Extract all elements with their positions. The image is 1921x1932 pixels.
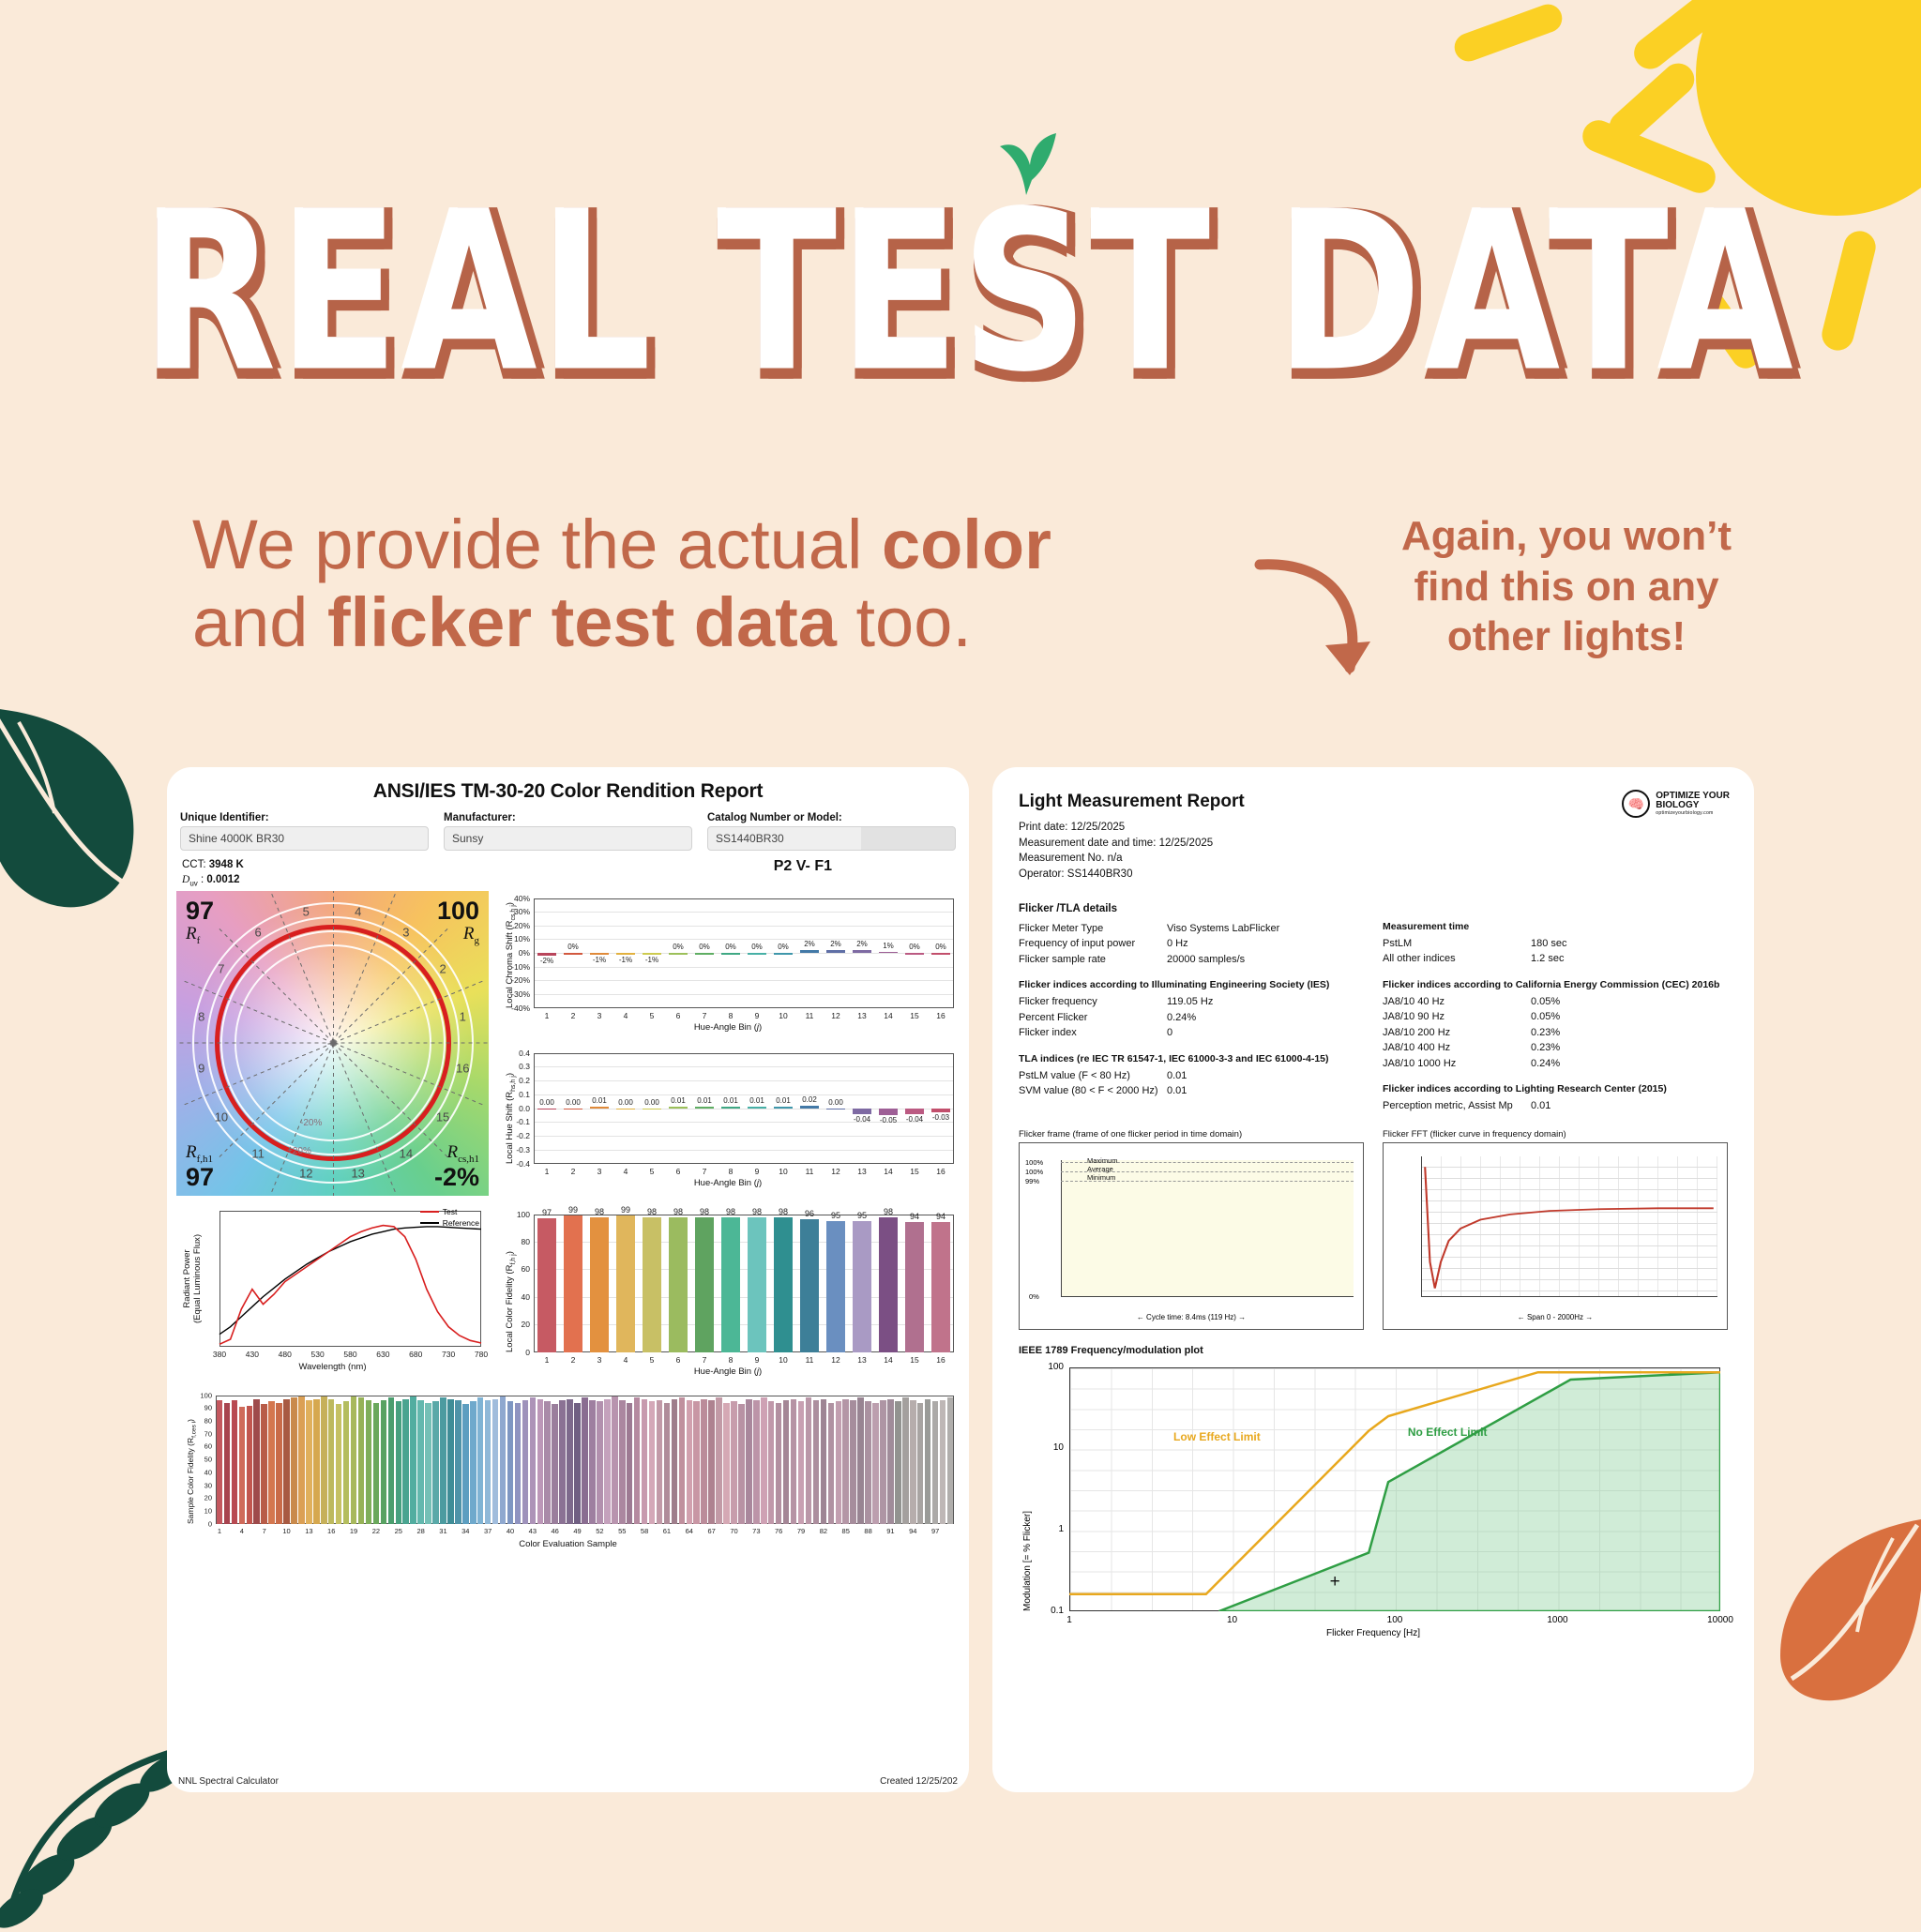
- x-tick-label: 5: [650, 1355, 655, 1365]
- bar: [925, 1399, 931, 1524]
- bar-value-label: 0.02: [802, 1095, 817, 1104]
- bar-value-label: -0.03: [932, 1113, 949, 1122]
- x-tick-label: 25: [395, 1527, 402, 1535]
- cvg-bin-label: 5: [303, 905, 310, 919]
- measurement-time-row: All other indices1.2 sec: [1383, 951, 1728, 967]
- bar: [564, 1215, 582, 1352]
- x-tick-label: 58: [641, 1527, 648, 1535]
- field-value[interactable]: Sunsy: [444, 826, 692, 851]
- bar: [693, 1401, 700, 1523]
- bar: [276, 1403, 282, 1524]
- local-color-fidelity-chart: 1008060402009719929839949859869879889899…: [496, 1201, 960, 1384]
- bar: [268, 1401, 275, 1523]
- x-axis-label: Hue-Angle Bin (j): [496, 1178, 960, 1188]
- y-axis-label: Local Hue Shift (Rhs,h j): [505, 1073, 517, 1164]
- bar-value-label: -1%: [593, 956, 606, 964]
- bar: [850, 1400, 856, 1524]
- kv-value: 180 sec: [1531, 936, 1567, 952]
- cec-row: JA8/10 1000 Hz0.24%: [1383, 1056, 1728, 1072]
- bar: [910, 1400, 916, 1524]
- bar-value-label: 98: [884, 1207, 893, 1216]
- callout-line-3: other lights!: [1384, 611, 1749, 662]
- meter-row: Frequency of input power0 Hz: [1019, 936, 1364, 952]
- bar-value-label: 0%: [935, 943, 946, 951]
- bar-value-label: 98: [700, 1207, 709, 1216]
- callout-text: Again, you won’t find this on any other …: [1384, 511, 1749, 662]
- bar-value-label: 95: [831, 1211, 840, 1220]
- bar: [774, 953, 793, 955]
- rf-readout: 97 Rf: [186, 898, 214, 946]
- field-unique-identifier: Unique Identifier: Shine 4000K BR30: [180, 812, 429, 851]
- bar: [887, 1399, 894, 1524]
- x-tick-label: 13: [857, 1167, 866, 1176]
- bar: [716, 1397, 722, 1523]
- bar: [791, 1399, 797, 1524]
- meter-row: Flicker Meter TypeViso Systems LabFlicke…: [1019, 921, 1364, 937]
- x-tick-label: 10: [779, 1355, 787, 1365]
- bar-value-label: 0.00: [644, 1098, 659, 1107]
- bar-value-label: 98: [726, 1207, 735, 1216]
- bar: [880, 1400, 886, 1524]
- ies-row: Percent Flicker0.24%: [1019, 1010, 1364, 1026]
- sun-ray-icon: [1819, 228, 1879, 354]
- x-tick-label: 76: [775, 1527, 782, 1535]
- x-tick-label: 380: [213, 1350, 226, 1359]
- x-tick-label: 9: [755, 1011, 760, 1020]
- rfh1-readout: Rf,h1 97: [186, 1142, 214, 1190]
- bar: [721, 953, 740, 955]
- bar: [753, 1400, 760, 1524]
- x-tick-label: 480: [279, 1350, 292, 1359]
- kv-key: All other indices: [1383, 951, 1531, 967]
- bar: [604, 1399, 611, 1524]
- frame-annotation: Average: [1087, 1165, 1113, 1173]
- flicker-right-column: Measurement time PstLM180 secAll other i…: [1383, 921, 1728, 1114]
- bar: [590, 953, 609, 955]
- x-tick-label: 7: [703, 1355, 707, 1365]
- bar: [616, 1109, 635, 1110]
- bar: [761, 1397, 767, 1523]
- gridline: [535, 980, 953, 981]
- bar: [537, 1109, 556, 1110]
- bar: [455, 1400, 461, 1524]
- y-axis-label: Modulation [= % Flicker]: [1022, 1511, 1033, 1611]
- bar: [564, 1109, 582, 1110]
- x-tick-label: 37: [484, 1527, 492, 1535]
- gridline: [535, 994, 953, 995]
- kv-value: 0.23%: [1531, 1040, 1560, 1056]
- bar-value-label: 0.01: [697, 1096, 712, 1105]
- x-tick-label: 46: [552, 1527, 559, 1535]
- x-tick-label: 12: [831, 1011, 839, 1020]
- cec-row: JA8/10 90 Hz0.05%: [1383, 1009, 1728, 1025]
- x-tick-label: 85: [842, 1527, 850, 1535]
- bar: [826, 1109, 845, 1110]
- spectrum-legend: TestReference: [420, 1207, 479, 1230]
- bar: [544, 1401, 551, 1523]
- bar: [402, 1399, 409, 1524]
- kv-value: Viso Systems LabFlicker: [1167, 921, 1279, 937]
- bar: [485, 1400, 492, 1524]
- ieee-limit-curves: [1069, 1367, 1720, 1611]
- bar: [695, 1217, 714, 1352]
- bar: [879, 952, 898, 954]
- field-value[interactable]: SS1440BR30: [707, 826, 956, 851]
- bar: [947, 1397, 954, 1523]
- bar: [530, 1397, 537, 1523]
- flicker-details-title: Flicker /TLA details: [1019, 903, 1728, 914]
- y-tick-label: 99%: [1025, 1177, 1039, 1185]
- bar-value-label: 0.01: [749, 1096, 764, 1105]
- sun-ray-icon: [1450, 0, 1566, 65]
- bar-value-label: 2%: [804, 940, 815, 948]
- kv-value: 0 Hz: [1167, 936, 1188, 952]
- bar-value-label: 94: [936, 1212, 945, 1221]
- bar: [537, 953, 556, 956]
- bar: [507, 1401, 514, 1523]
- bar: [537, 1399, 544, 1524]
- bar: [253, 1399, 260, 1524]
- y-tick-label: 90: [176, 1404, 212, 1412]
- kv-value: 0.01: [1531, 1098, 1550, 1114]
- x-tick-label: 88: [864, 1527, 871, 1535]
- kv-key: SVM value (80 < F < 2000 Hz): [1019, 1083, 1167, 1099]
- x-tick-label: 8: [729, 1011, 734, 1020]
- gridline: [535, 912, 953, 913]
- bar: [590, 1107, 609, 1109]
- cvg-bin-label: 7: [218, 961, 224, 975]
- bar: [865, 1401, 871, 1523]
- bar: [783, 1400, 790, 1524]
- ies-title: Flicker indices according to Illuminatin…: [1019, 979, 1364, 990]
- x-tick-label: 16: [936, 1011, 945, 1020]
- x-tick-label: 3: [597, 1167, 602, 1176]
- x-axis-label: Hue-Angle Bin (j): [496, 1366, 960, 1377]
- lmr-operator: Operator: SS1440BR30: [1019, 867, 1728, 883]
- kv-value: 0.01: [1167, 1068, 1187, 1084]
- bar: [425, 1403, 431, 1524]
- x-tick-label: 13: [305, 1527, 312, 1535]
- x-tick-label: 430: [246, 1350, 259, 1359]
- tm30-report-card: ANSI/IES TM-30-20 Color Rendition Report…: [167, 767, 969, 1792]
- bar: [905, 953, 924, 955]
- y-axis-label: Sample Color Fidelity (Rf,ces i): [186, 1419, 198, 1524]
- bar: [283, 1399, 290, 1524]
- rg-value: 100: [437, 898, 479, 924]
- x-tick-label: 3: [597, 1355, 602, 1365]
- frame-x-axis-label: ← Cycle time: 8.4ms (119 Hz) →: [1020, 1313, 1363, 1321]
- rg-label: R: [463, 924, 475, 943]
- measurement-marker: +: [1330, 1572, 1340, 1592]
- bar: [470, 1401, 476, 1523]
- bar: [298, 1396, 305, 1524]
- bar: [842, 1399, 849, 1524]
- bar: [940, 1400, 946, 1524]
- x-tick-label: 5: [650, 1011, 655, 1020]
- bar-value-label: 0%: [725, 943, 736, 951]
- y-tick-label: 0.4: [496, 1049, 530, 1058]
- x-tick-label: 7: [703, 1167, 707, 1176]
- rfh1-label: R: [186, 1142, 197, 1162]
- y-axis-label: Radiant Power(Equal Luminous Flux): [182, 1211, 204, 1347]
- y-axis-label: Local Chroma Shift (Rcs,h j): [505, 902, 517, 1008]
- bar: [821, 1399, 827, 1524]
- bar-value-label: 0.00: [566, 1098, 581, 1107]
- gridline: [535, 926, 953, 927]
- bar: [616, 953, 635, 955]
- bar: [351, 1396, 357, 1524]
- cvg-bin-label: 2: [439, 961, 446, 975]
- field-value[interactable]: Shine 4000K BR30: [180, 826, 429, 851]
- kv-key: JA8/10 90 Hz: [1383, 1009, 1531, 1025]
- field-catalog-number: Catalog Number or Model: SS1440BR30: [707, 812, 956, 851]
- x-tick-label: 4: [240, 1527, 244, 1535]
- field-manufacturer: Manufacturer: Sunsy: [444, 812, 692, 851]
- bar: [232, 1400, 238, 1524]
- x-tick-label: 13: [857, 1011, 866, 1020]
- gridline: [535, 1080, 953, 1081]
- sun-ray-icon: [1603, 57, 1701, 150]
- kv-value: 0.05%: [1531, 1009, 1560, 1025]
- bar: [612, 1396, 618, 1524]
- bar: [669, 1107, 688, 1109]
- bar: [776, 1403, 782, 1524]
- bar-value-label: 98: [595, 1207, 604, 1216]
- bar: [917, 1403, 924, 1524]
- x-tick-label: 2: [571, 1167, 576, 1176]
- fft-curve: [1421, 1156, 1717, 1297]
- cct-value: 3948 K: [209, 859, 244, 870]
- x-tick-label: 4: [624, 1011, 628, 1020]
- x-tick-label: 1: [218, 1527, 221, 1535]
- lrc-row: Perception metric, Assist Mp0.01: [1383, 1098, 1728, 1114]
- x-tick-label: 11: [806, 1167, 814, 1176]
- bar: [695, 1107, 714, 1109]
- flicker-left-column: Flicker Meter TypeViso Systems LabFlicke…: [1019, 921, 1364, 1114]
- x-tick-label: 12: [831, 1167, 839, 1176]
- x-tick-label: 16: [936, 1355, 945, 1365]
- x-tick-label: 6: [676, 1167, 681, 1176]
- x-tick-label: 10000: [1707, 1615, 1733, 1625]
- bar: [853, 1221, 871, 1352]
- bar-value-label: 2%: [856, 940, 868, 948]
- x-tick-label: 15: [910, 1355, 918, 1365]
- cvg-bin-label: 8: [198, 1009, 204, 1023]
- cct-label: CCT:: [182, 859, 206, 870]
- bar: [564, 953, 582, 955]
- callout-line-2: find this on any: [1384, 562, 1749, 612]
- x-tick-label: 1: [545, 1355, 550, 1365]
- x-tick-label: 780: [475, 1350, 488, 1359]
- subhead-line2-post: too.: [837, 583, 972, 661]
- x-tick-label: 12: [831, 1355, 839, 1365]
- y-tick-label: 0%: [1029, 1292, 1039, 1301]
- bar-value-label: 0.01: [592, 1096, 607, 1105]
- bar: [649, 1401, 656, 1523]
- gridline: [535, 967, 953, 968]
- bar: [695, 953, 714, 955]
- bar: [721, 1217, 740, 1352]
- kv-value: 0.24%: [1167, 1010, 1196, 1026]
- bar: [313, 1399, 320, 1524]
- plot-frame: [219, 1211, 481, 1347]
- x-tick-label: 49: [573, 1527, 581, 1535]
- bar-value-label: 1%: [883, 942, 894, 950]
- bar: [879, 1109, 898, 1115]
- kv-key: JA8/10 400 Hz: [1383, 1040, 1531, 1056]
- x-tick-label: 3: [597, 1011, 602, 1020]
- y-tick-label: 10: [1026, 1442, 1064, 1453]
- cvg-spoke: [333, 891, 334, 1044]
- bar: [738, 1404, 745, 1523]
- bar: [343, 1401, 350, 1523]
- x-tick-label: 14: [884, 1167, 892, 1176]
- bar: [798, 1401, 805, 1523]
- x-tick-label: 22: [372, 1527, 380, 1535]
- kv-value: 0: [1167, 1025, 1172, 1041]
- x-axis-label: Hue-Angle Bin (j): [496, 1022, 960, 1033]
- x-tick-label: 6: [676, 1355, 681, 1365]
- x-tick-label: 1000: [1547, 1615, 1567, 1625]
- bar: [247, 1406, 253, 1524]
- cvg-spoke: [176, 1043, 333, 1044]
- bar: [687, 1400, 693, 1524]
- bar: [432, 1401, 439, 1523]
- subhead: We provide the actual color and flicker …: [192, 506, 1130, 662]
- cec-title: Flicker indices according to California …: [1383, 979, 1728, 990]
- x-axis-label: Color Evaluation Sample: [176, 1539, 960, 1549]
- report-footer-left: NNL Spectral Calculator: [178, 1776, 279, 1787]
- cct-block: CCT: 3948 K Duv : 0.0012: [182, 858, 244, 889]
- bar-value-label: -2%: [540, 957, 553, 965]
- light-measurement-report-card: 🧠 OPTIMIZE YOUR BIOLOGY optimizeyourbiol…: [992, 767, 1754, 1792]
- bar-value-label: -0.04: [854, 1115, 870, 1124]
- bar: [589, 1400, 596, 1524]
- bar: [806, 1397, 812, 1523]
- y-tick-label: 100: [176, 1391, 212, 1399]
- frame-annotation: Minimum: [1087, 1173, 1115, 1182]
- rg-sub: g: [475, 934, 480, 945]
- rg-readout: 100 Rg: [437, 898, 479, 946]
- bar-value-label: 0%: [567, 943, 579, 951]
- gridline: [535, 939, 953, 940]
- bar: [721, 1107, 740, 1109]
- bar-value-label: 99: [621, 1205, 630, 1215]
- bar: [447, 1399, 454, 1524]
- kv-value: 119.05 Hz: [1167, 994, 1213, 1010]
- brain-icon: 🧠: [1622, 790, 1650, 818]
- x-axis-label: Flicker Frequency [Hz]: [1019, 1628, 1728, 1638]
- x-tick-label: 16: [327, 1527, 335, 1535]
- kv-value: 0.24%: [1531, 1056, 1560, 1072]
- x-tick-label: 40: [507, 1527, 514, 1535]
- kv-key: JA8/10 40 Hz: [1383, 994, 1531, 1010]
- tm30-title: ANSI/IES TM-30-20 Color Rendition Report: [167, 780, 969, 803]
- bar: [388, 1397, 395, 1523]
- cvg-bin-label: 3: [402, 925, 409, 939]
- x-tick-label: 82: [820, 1527, 827, 1535]
- legend-label: Reference: [443, 1218, 479, 1228]
- bar: [239, 1407, 246, 1524]
- bar: [381, 1400, 387, 1524]
- y-tick-label: 0.3: [496, 1062, 530, 1071]
- bar: [417, 1400, 424, 1524]
- bar: [643, 1217, 661, 1352]
- kv-value: 20000 samples/s: [1167, 952, 1245, 968]
- bar: [657, 1400, 663, 1524]
- bar-value-label: 0%: [778, 943, 789, 951]
- frame-annotation: Maximum: [1087, 1156, 1118, 1165]
- x-axis-label: Wavelength (nm): [176, 1362, 489, 1372]
- bar: [931, 1109, 950, 1112]
- bar: [366, 1400, 372, 1524]
- cvg-bin-label: 4: [355, 905, 361, 919]
- bar: [537, 1218, 556, 1352]
- lrc-title: Flicker indices according to Lighting Re…: [1383, 1083, 1728, 1094]
- kv-key: PstLM: [1383, 936, 1531, 952]
- bar: [669, 1217, 688, 1352]
- bar: [336, 1404, 342, 1523]
- kv-key: Percent Flicker: [1019, 1010, 1167, 1026]
- kv-value: 0.05%: [1531, 994, 1560, 1010]
- low-effect-limit-label: Low Effect Limit: [1173, 1430, 1261, 1443]
- kv-key: Flicker frequency: [1019, 994, 1167, 1010]
- x-tick-label: 730: [442, 1350, 455, 1359]
- subhead-line2-pre: and: [192, 583, 327, 661]
- x-tick-label: 10: [779, 1167, 787, 1176]
- bar: [552, 1404, 558, 1523]
- x-tick-label: 79: [797, 1527, 805, 1535]
- bar: [895, 1401, 901, 1523]
- rcsh1-value: -2%: [434, 1165, 479, 1190]
- bar-value-label: 0.01: [671, 1096, 686, 1105]
- y-tick-label: 80: [496, 1237, 530, 1246]
- bar: [826, 1221, 845, 1352]
- tla-row: PstLM value (F < 80 Hz)0.01: [1019, 1068, 1364, 1084]
- ies-row: Flicker index0: [1019, 1025, 1364, 1041]
- kv-key: Flicker index: [1019, 1025, 1167, 1041]
- bar: [800, 1219, 819, 1351]
- bar: [477, 1397, 484, 1523]
- cvg-bin-label: 10: [215, 1109, 228, 1124]
- bar: [768, 1401, 775, 1523]
- bar-value-label: 98: [752, 1207, 762, 1216]
- bar: [905, 1222, 924, 1351]
- kv-value: 1.2 sec: [1531, 951, 1564, 967]
- gridline: [535, 1094, 953, 1095]
- no-effect-limit-label: No Effect Limit: [1408, 1426, 1488, 1439]
- subhead-line2-bold: flicker test data: [327, 583, 837, 661]
- bar: [723, 1403, 730, 1524]
- y-tick-label: 100: [496, 1210, 530, 1219]
- field-label: Unique Identifier:: [180, 812, 429, 823]
- x-tick-label: 8: [729, 1355, 734, 1365]
- brand-logo: 🧠 OPTIMIZE YOUR BIOLOGY optimizeyourbiol…: [1622, 790, 1730, 818]
- x-tick-label: 10: [282, 1527, 290, 1535]
- legend-label: Test: [443, 1207, 458, 1216]
- sample-color-fidelity-chart: 1009080706050403020100147101316192225283…: [176, 1388, 960, 1562]
- leaf-decoration-right: [1733, 1501, 1921, 1716]
- bar-value-label: 0.00: [539, 1098, 554, 1107]
- x-tick-label: 64: [686, 1527, 693, 1535]
- kv-value: 0.23%: [1531, 1025, 1560, 1041]
- cvg-bin-label: 12: [299, 1166, 312, 1180]
- bar: [800, 950, 819, 953]
- bar: [261, 1404, 267, 1523]
- x-tick-label: 1: [545, 1167, 550, 1176]
- x-tick-label: 19: [350, 1527, 357, 1535]
- fft-x-axis-label: ← Span 0 - 2000Hz →: [1384, 1313, 1727, 1321]
